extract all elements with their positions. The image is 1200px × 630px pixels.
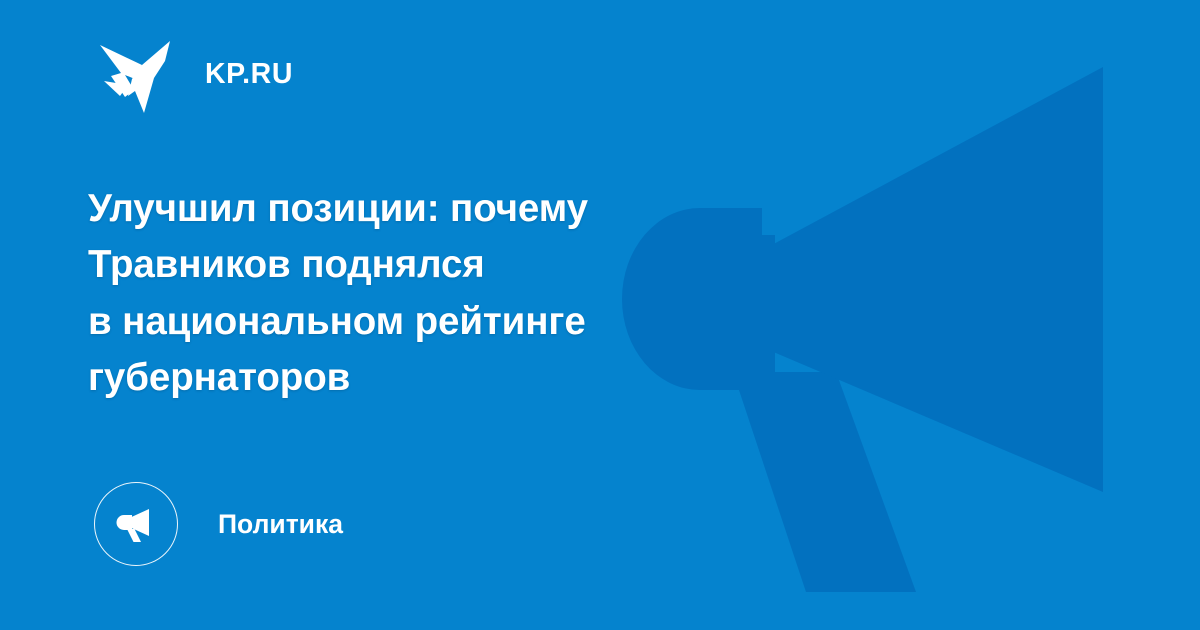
- brand-logo[interactable]: KP.RU: [88, 34, 293, 114]
- headline-line: Травников поднялся: [88, 237, 928, 294]
- category-badge[interactable]: Политика: [94, 481, 343, 567]
- category-label: Политика: [218, 511, 343, 538]
- headline: Улучшил позиции: почему Травников поднял…: [88, 181, 928, 407]
- headline-line: в национальном рейтинге: [88, 294, 928, 351]
- headline-line: губернаторов: [88, 350, 928, 407]
- share-card: KP.RU Улучшил позиции: почему Травников …: [0, 0, 1200, 630]
- swallow-bird-icon: [98, 35, 178, 113]
- category-icon-circle: [94, 482, 178, 566]
- megaphone-icon: [114, 502, 158, 546]
- brand-wordmark: KP.RU: [205, 60, 293, 89]
- headline-line: Улучшил позиции: почему: [88, 181, 928, 238]
